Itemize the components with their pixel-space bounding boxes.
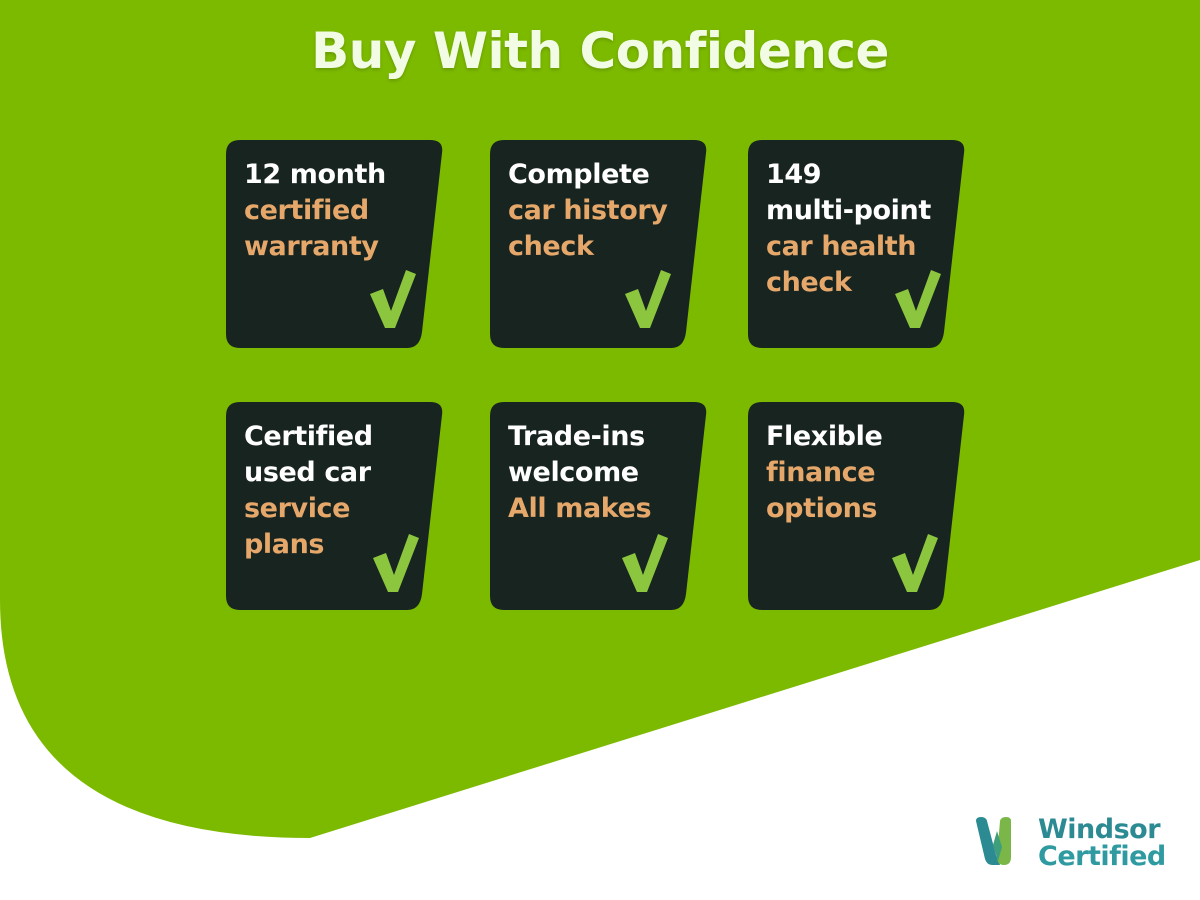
feature-card[interactable]: Certified used car service plans (226, 402, 444, 610)
card-line: 12 month (244, 157, 410, 193)
card-text-block: 12 month certified warranty (244, 157, 410, 265)
card-line: used car (244, 455, 410, 491)
feature-card[interactable]: Trade-ins welcome All makes (490, 402, 708, 610)
card-line: Complete (508, 157, 674, 193)
card-line: All makes (508, 491, 674, 527)
card-line: finance (766, 455, 932, 491)
card-line: multi-point (766, 193, 932, 229)
windsor-w-mark-icon (972, 817, 1028, 869)
brand-line-1: Windsor (1038, 816, 1166, 843)
card-text-block: Trade-ins welcome All makes (508, 419, 674, 527)
card-text-block: Flexible finance options (766, 419, 932, 527)
check-icon (366, 268, 418, 330)
card-line: check (508, 229, 674, 265)
check-icon (621, 268, 673, 330)
feature-card[interactable]: 12 month certified warranty (226, 140, 444, 348)
card-line: options (766, 491, 932, 527)
brand-wordmark: Windsor Certified (1038, 816, 1166, 870)
card-line: Certified (244, 419, 410, 455)
poster-canvas: Buy With Confidence 12 month certified w… (0, 0, 1200, 900)
card-line: certified (244, 193, 410, 229)
feature-card[interactable]: Flexible finance options (748, 402, 966, 610)
card-line: welcome (508, 455, 674, 491)
check-icon (888, 532, 940, 594)
card-text-block: Complete car history check (508, 157, 674, 265)
check-icon (891, 268, 943, 330)
brand-line-2: Certified (1038, 843, 1166, 870)
feature-card[interactable]: Complete car history check (490, 140, 708, 348)
brand-logo[interactable]: Windsor Certified (972, 812, 1172, 874)
card-line: car health (766, 229, 932, 265)
card-line: service (244, 491, 410, 527)
card-line: warranty (244, 229, 410, 265)
feature-card-grid: 12 month certified warranty Complete car… (226, 140, 978, 610)
card-line: car history (508, 193, 674, 229)
check-icon (618, 532, 670, 594)
card-line: Flexible (766, 419, 932, 455)
card-line: 149 (766, 157, 932, 193)
check-icon (369, 532, 421, 594)
card-line: Trade-ins (508, 419, 674, 455)
page-title: Buy With Confidence (0, 22, 1200, 80)
feature-card[interactable]: 149 multi-point car health check (748, 140, 966, 348)
